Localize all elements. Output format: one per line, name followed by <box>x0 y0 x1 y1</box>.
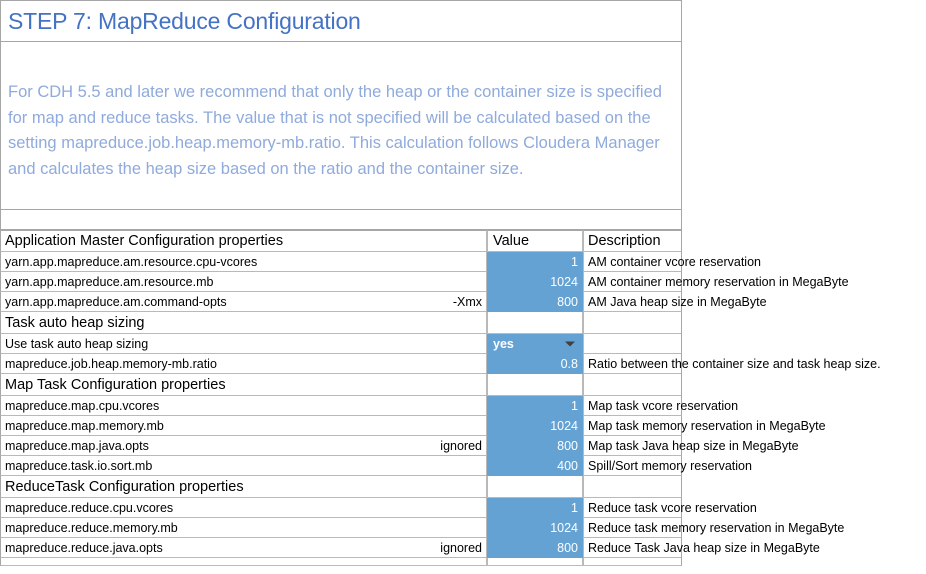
description-cell[interactable]: Map task Java heap size in MegaByte <box>583 436 682 456</box>
table-row: mapreduce.reduce.memory.mb1024Reduce tas… <box>0 518 926 538</box>
description-text: Map task Java heap size in MegaByte <box>588 439 799 453</box>
description-cell[interactable] <box>583 334 682 354</box>
description-cell[interactable]: Spill/Sort memory reservation <box>583 456 682 476</box>
section-header-cell[interactable]: ReduceTask Configuration properties <box>0 476 487 498</box>
description-cell[interactable] <box>583 374 682 396</box>
description-cell[interactable]: AM container memory reservation in MegaB… <box>583 272 682 292</box>
value-cell[interactable]: 1024 <box>487 416 583 436</box>
description-cell[interactable]: AM Java heap size in MegaByte <box>583 292 682 312</box>
table-trailing-row <box>0 558 926 566</box>
description-cell[interactable]: AM container vcore reservation <box>583 252 682 272</box>
value-cell[interactable]: 400 <box>487 456 583 476</box>
value-cell[interactable]: 800 <box>487 538 583 558</box>
property-name: Map Task Configuration properties <box>5 377 226 393</box>
description-text: Map task memory reservation in MegaByte <box>588 419 826 433</box>
spacer-row <box>0 210 682 230</box>
description-text: AM container vcore reservation <box>588 255 761 269</box>
table-section-row: ReduceTask Configuration properties <box>0 476 926 498</box>
empty-cell[interactable] <box>487 558 583 566</box>
value-cell-empty[interactable]: Value <box>487 230 583 252</box>
property-note: ignored <box>440 541 482 555</box>
description-text: Map task vcore reservation <box>588 399 738 413</box>
description-cell[interactable] <box>583 312 682 334</box>
property-name: mapreduce.map.java.opts <box>5 439 149 453</box>
property-name-cell[interactable]: mapreduce.map.cpu.vcores <box>0 396 487 416</box>
table-row: mapreduce.map.memory.mb1024Map task memo… <box>0 416 926 436</box>
property-name: ReduceTask Configuration properties <box>5 479 244 495</box>
property-name-cell[interactable]: mapreduce.job.heap.memory-mb.ratio <box>0 354 487 374</box>
value-cell[interactable]: 800 <box>487 292 583 312</box>
property-name: mapreduce.map.memory.mb <box>5 419 164 433</box>
property-note: -Xmx <box>453 295 482 309</box>
value-cell[interactable]: 1 <box>487 396 583 416</box>
page-title: STEP 7: MapReduce Configuration <box>8 8 361 35</box>
empty-cell[interactable] <box>583 558 682 566</box>
value-text: 800 <box>557 541 578 555</box>
table-row: mapreduce.reduce.java.optsignored800Redu… <box>0 538 926 558</box>
property-name: mapreduce.reduce.cpu.vcores <box>5 501 173 515</box>
property-name-cell[interactable]: mapreduce.map.memory.mb <box>0 416 487 436</box>
value-text: 400 <box>557 459 578 473</box>
empty-cell[interactable] <box>0 558 487 566</box>
value-dropdown-label: yes <box>493 337 514 351</box>
property-name-cell[interactable]: Use task auto heap sizing <box>0 334 487 354</box>
value-cell[interactable]: 800 <box>487 436 583 456</box>
value-dropdown[interactable]: yes <box>487 334 583 354</box>
value-cell-empty[interactable] <box>487 312 583 334</box>
page-title-cell: STEP 7: MapReduce Configuration <box>0 0 682 42</box>
table-row: mapreduce.map.cpu.vcores1Map task vcore … <box>0 396 926 416</box>
value-cell[interactable]: 0.8 <box>487 354 583 374</box>
table-row: mapreduce.map.java.optsignored800Map tas… <box>0 436 926 456</box>
description-text: Reduce task vcore reservation <box>588 501 757 515</box>
value-text: 0.8 <box>561 357 578 371</box>
property-name: yarn.app.mapreduce.am.resource.mb <box>5 275 213 289</box>
description-text: Spill/Sort memory reservation <box>588 459 752 473</box>
value-cell[interactable]: 1 <box>487 498 583 518</box>
table-section-row: Map Task Configuration properties <box>0 374 926 396</box>
property-name-cell[interactable]: yarn.app.mapreduce.am.resource.cpu-vcore… <box>0 252 487 272</box>
value-cell[interactable]: 1024 <box>487 272 583 292</box>
description-cell[interactable]: Map task vcore reservation <box>583 396 682 416</box>
intro-cell: For CDH 5.5 and later we recommend that … <box>0 42 682 210</box>
property-name-cell[interactable]: yarn.app.mapreduce.am.command-opts-Xmx <box>0 292 487 312</box>
property-name: mapreduce.map.cpu.vcores <box>5 399 159 413</box>
section-header-cell[interactable]: Application Master Configuration propert… <box>0 230 487 252</box>
value-text: 800 <box>557 295 578 309</box>
value-cell[interactable]: 1 <box>487 252 583 272</box>
table-row: yarn.app.mapreduce.am.resource.mb1024AM … <box>0 272 926 292</box>
section-header-cell[interactable]: Task auto heap sizing <box>0 312 487 334</box>
property-name-cell[interactable]: mapreduce.map.java.optsignored <box>0 436 487 456</box>
spreadsheet-canvas: STEP 7: MapReduce Configuration For CDH … <box>0 0 926 574</box>
description-cell[interactable] <box>583 476 682 498</box>
value-cell[interactable]: 1024 <box>487 518 583 538</box>
table-row: mapreduce.job.heap.memory-mb.ratio0.8Rat… <box>0 354 926 374</box>
property-name: mapreduce.task.io.sort.mb <box>5 459 152 473</box>
value-text: 1 <box>571 399 578 413</box>
value-text: 1 <box>571 501 578 515</box>
value-text: 1 <box>571 255 578 269</box>
table-row: Use task auto heap sizingyes <box>0 334 926 354</box>
property-name: Use task auto heap sizing <box>5 337 148 351</box>
description-cell[interactable]: Reduce task memory reservation in MegaBy… <box>583 518 682 538</box>
value-text: 1024 <box>550 275 578 289</box>
table-row: yarn.app.mapreduce.am.command-opts-Xmx80… <box>0 292 926 312</box>
value-column-header: Value <box>493 233 529 249</box>
property-name: mapreduce.job.heap.memory-mb.ratio <box>5 357 217 371</box>
property-name-cell[interactable]: yarn.app.mapreduce.am.resource.mb <box>0 272 487 292</box>
description-cell[interactable]: Ratio between the container size and tas… <box>583 354 682 374</box>
description-cell[interactable]: Reduce Task Java heap size in MegaByte <box>583 538 682 558</box>
chevron-down-icon[interactable] <box>565 341 575 346</box>
value-text: 1024 <box>550 521 578 535</box>
property-name: yarn.app.mapreduce.am.resource.cpu-vcore… <box>5 255 257 269</box>
property-name-cell[interactable]: mapreduce.reduce.java.optsignored <box>0 538 487 558</box>
property-name: Task auto heap sizing <box>5 315 144 331</box>
description-text: Reduce task memory reservation in MegaBy… <box>588 521 844 535</box>
table-row: mapreduce.reduce.cpu.vcores1Reduce task … <box>0 498 926 518</box>
description-column-header: Description <box>588 233 661 249</box>
property-name: mapreduce.reduce.java.opts <box>5 541 163 555</box>
description-text: Reduce Task Java heap size in MegaByte <box>588 541 820 555</box>
description-cell[interactable]: Reduce task vcore reservation <box>583 498 682 518</box>
property-name: mapreduce.reduce.memory.mb <box>5 521 178 535</box>
section-header-cell[interactable]: Map Task Configuration properties <box>0 374 487 396</box>
value-cell-empty[interactable] <box>487 374 583 396</box>
property-name: Application Master Configuration propert… <box>5 233 283 249</box>
description-text: AM container memory reservation in MegaB… <box>588 275 849 289</box>
value-cell-empty[interactable] <box>487 476 583 498</box>
description-text: AM Java heap size in MegaByte <box>588 295 767 309</box>
property-name: yarn.app.mapreduce.am.command-opts <box>5 295 227 309</box>
table-section-row: Application Master Configuration propert… <box>0 230 926 252</box>
value-text: 800 <box>557 439 578 453</box>
property-note: ignored <box>440 439 482 453</box>
description-cell[interactable]: Map task memory reservation in MegaByte <box>583 416 682 436</box>
table-row: mapreduce.task.io.sort.mb400Spill/Sort m… <box>0 456 926 476</box>
property-name-cell[interactable]: mapreduce.reduce.cpu.vcores <box>0 498 487 518</box>
intro-text: For CDH 5.5 and later we recommend that … <box>8 80 668 182</box>
config-table: Application Master Configuration propert… <box>0 230 926 566</box>
description-text: Ratio between the container size and tas… <box>588 357 881 371</box>
table-section-row: Task auto heap sizing <box>0 312 926 334</box>
description-cell[interactable]: Description <box>583 230 682 252</box>
property-name-cell[interactable]: mapreduce.task.io.sort.mb <box>0 456 487 476</box>
property-name-cell[interactable]: mapreduce.reduce.memory.mb <box>0 518 487 538</box>
value-text: 1024 <box>550 419 578 433</box>
table-row: yarn.app.mapreduce.am.resource.cpu-vcore… <box>0 252 926 272</box>
